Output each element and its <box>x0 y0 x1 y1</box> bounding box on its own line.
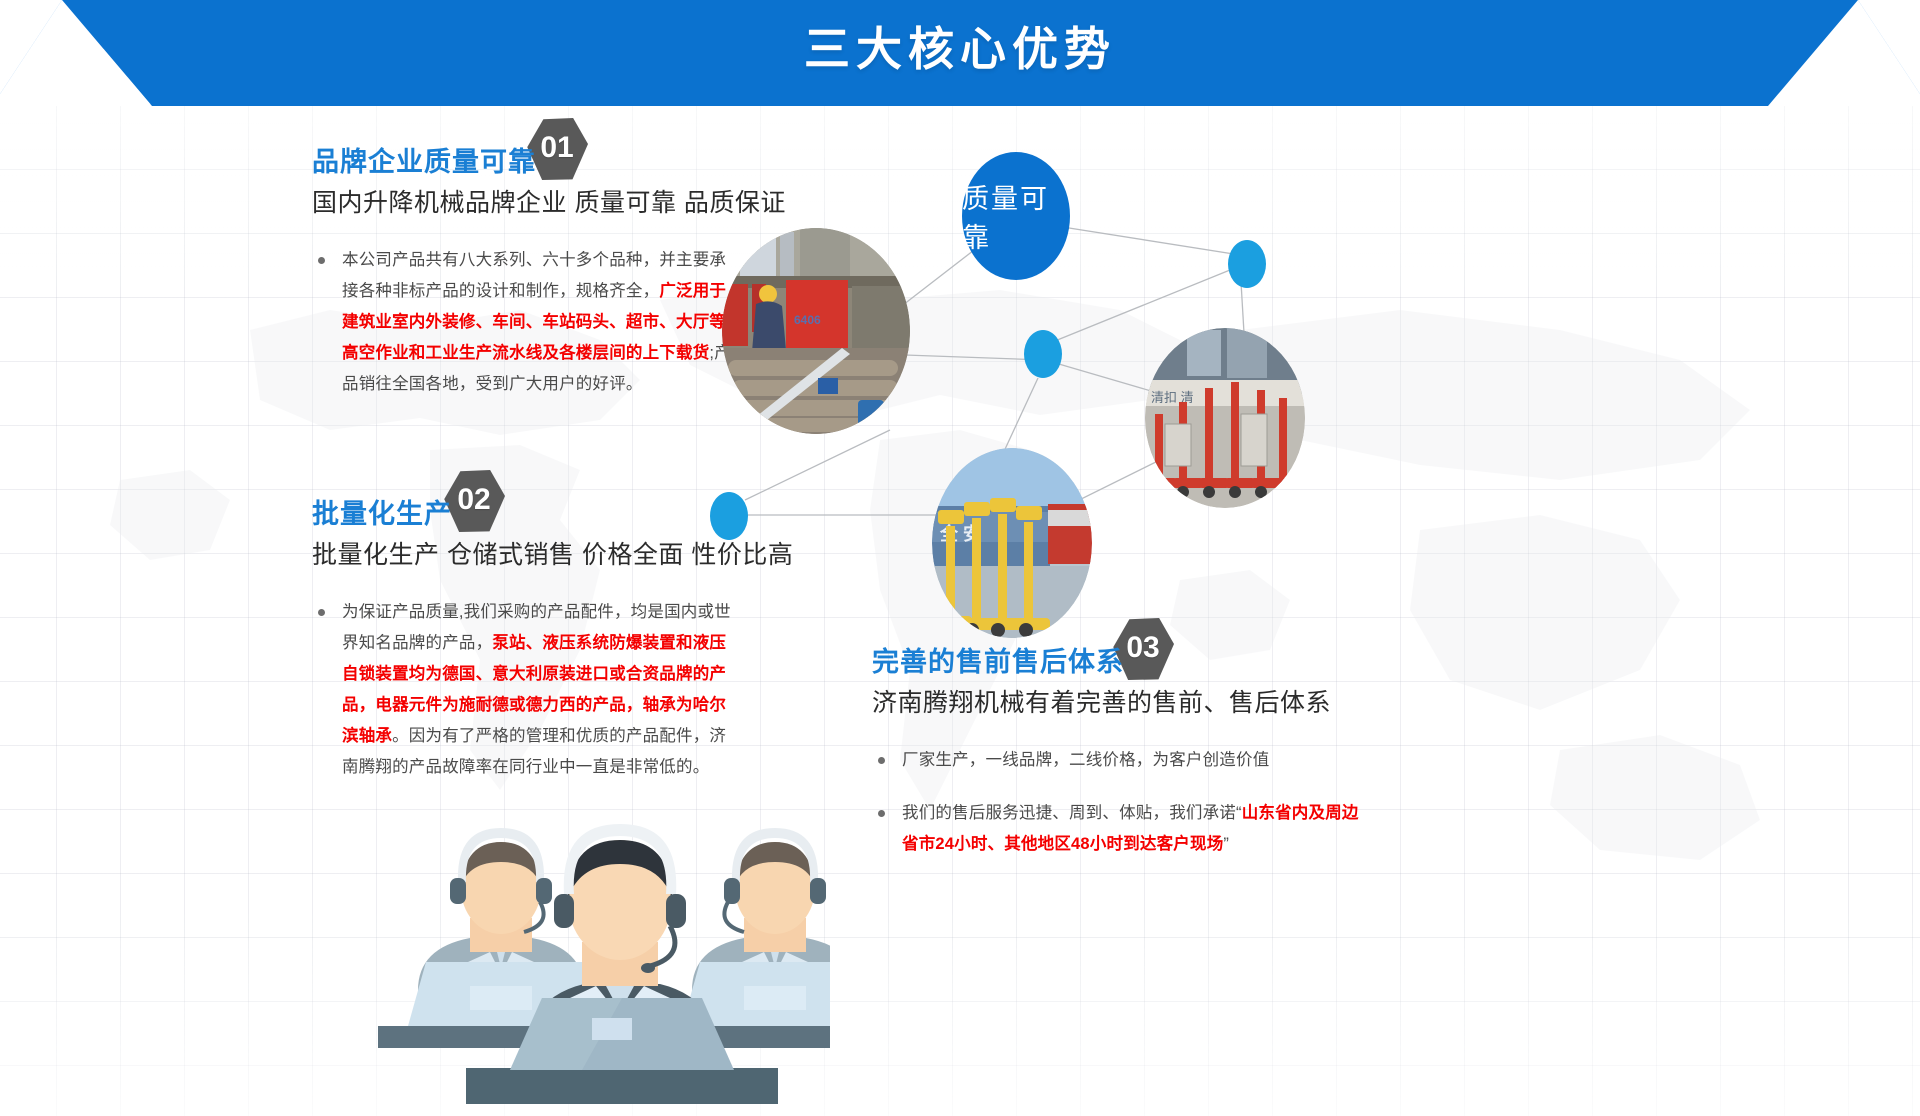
feature-03-bullets: 厂家生产，一线品牌，二线价格，为客户创造价值 我们的售后服务迅捷、周到、体贴，我… <box>872 745 1372 860</box>
svg-text:清扣 清: 清扣 清 <box>1151 390 1194 405</box>
photo-yellow-boom-lifts-yard: 全 安 <box>932 448 1092 638</box>
feature-block-01: 品牌企业质量可靠 01 国内升降机械品牌企业 质量可靠 品质保证 本公司产品共有… <box>312 140 742 422</box>
list-item: 我们的售后服务迅捷、周到、体贴，我们承诺“山东省内及周边省市24小时、其他地区4… <box>872 798 1372 860</box>
feature-03-number: 03 <box>1126 631 1159 665</box>
feature-01-number: 01 <box>540 131 573 165</box>
feature-02-subtitle: 批量化生产 仓储式销售 价格全面 性价比高 <box>312 535 742 571</box>
network-dot-3 <box>710 492 748 540</box>
list-item: 厂家生产，一线品牌，二线价格，为客户创造价值 <box>872 745 1372 776</box>
feature-block-02: 批量化生产 02 批量化生产 仓储式销售 价格全面 性价比高 为保证产品质量,我… <box>312 492 742 805</box>
call-center-illustration <box>330 790 830 1116</box>
network-diagram: 质量可靠 6406 <box>700 130 1320 650</box>
network-dot-2 <box>1024 330 1062 378</box>
network-dot-1 <box>1228 240 1266 288</box>
page-root: 三大核心优势 品牌企业质量可靠 01 国内升降机械品牌企业 质量可靠 品质保证 … <box>0 0 1920 1116</box>
feature-01-subtitle: 国内升降机械品牌企业 质量可靠 品质保证 <box>312 183 742 219</box>
bullet-text-plain-1: 我们的售后服务迅捷、周到、体贴，我们承诺“ <box>902 804 1242 822</box>
page-title: 三大核心优势 <box>0 0 1920 92</box>
bullet-text-plain-2: ” <box>1223 835 1229 853</box>
feature-02-bullets: 为保证产品质量,我们采购的产品配件，均是国内或世界知名品牌的产品，泵站、液压系统… <box>312 597 742 783</box>
hub-node-label: 质量可靠 <box>962 177 1070 255</box>
feature-01-title: 品牌企业质量可靠 <box>312 140 536 179</box>
feature-03-title: 完善的售前售后体系 <box>872 640 1124 679</box>
feature-02-title: 批量化生产 <box>312 492 452 531</box>
bullet-text-plain-2: 。因为有了严格的管理和优质的产品配件，济南腾翔的产品故障率在同行业中一直是非常低… <box>342 727 726 776</box>
header-banner: 三大核心优势 <box>0 0 1920 106</box>
feature-02-number: 02 <box>457 483 490 517</box>
photo-red-aluminum-lift-row: 清扣 清 <box>1145 328 1305 508</box>
feature-02-head: 批量化生产 02 <box>312 492 452 531</box>
feature-01-bullets: 本公司产品共有八大系列、六十多个品种，并主要承接各种非标产品的设计和制作，规格齐… <box>312 245 742 400</box>
feature-03-subtitle: 济南腾翔机械有着完善的售前、售后体系 <box>872 683 1372 719</box>
feature-03-head: 完善的售前售后体系 03 <box>872 640 1124 679</box>
feature-01-head: 品牌企业质量可靠 01 <box>312 140 536 179</box>
list-item: 为保证产品质量,我们采购的产品配件，均是国内或世界知名品牌的产品，泵站、液压系统… <box>312 597 742 783</box>
photo-workshop-cutting-machine: 6406 <box>722 228 910 434</box>
svg-text:6406: 6406 <box>794 313 821 327</box>
list-item: 本公司产品共有八大系列、六十多个品种，并主要承接各种非标产品的设计和制作，规格齐… <box>312 245 742 400</box>
hub-node-quality: 质量可靠 <box>962 152 1070 280</box>
feature-block-03: 完善的售前售后体系 03 济南腾翔机械有着完善的售前、售后体系 厂家生产，一线品… <box>872 640 1372 882</box>
bullet-text-plain-1: 厂家生产，一线品牌，二线价格，为客户创造价值 <box>902 751 1269 769</box>
